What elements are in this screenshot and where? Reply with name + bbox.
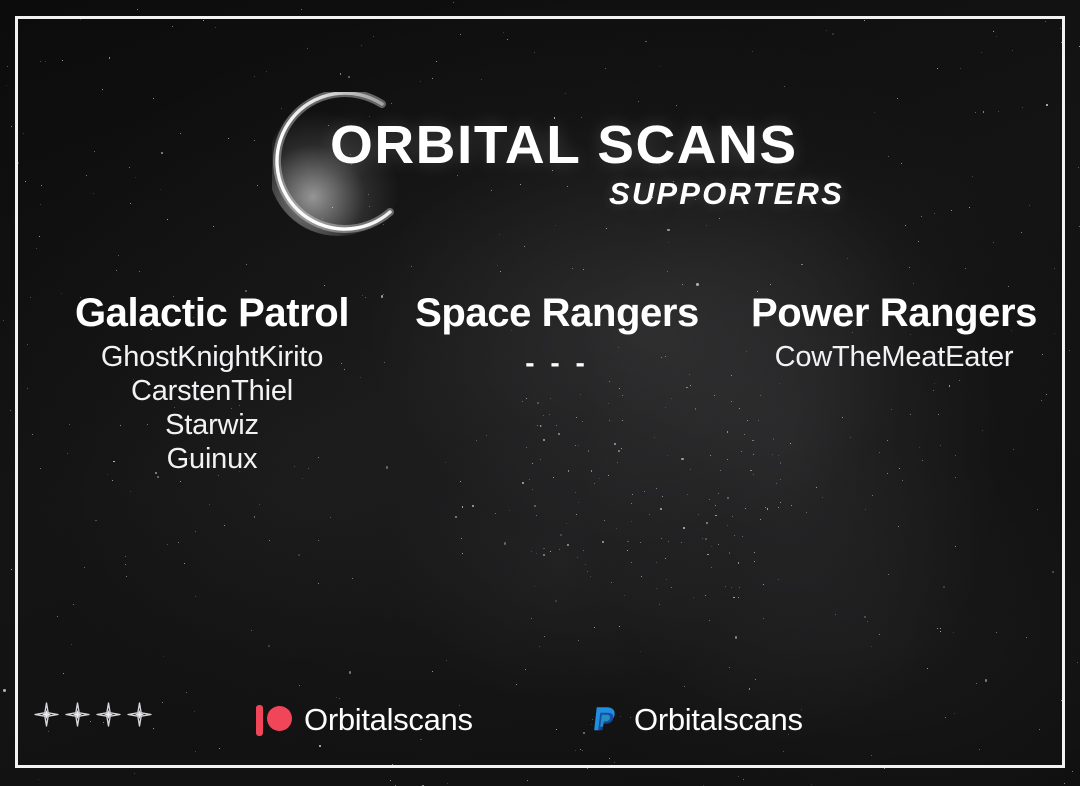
tier-galactic-patrol: Galactic Patrol GhostKnightKirito Carste… [32,290,392,476]
tier-member-list: CowTheMeatEater [724,340,1064,374]
sparkle-star-icon [34,702,59,727]
list-item: CowTheMeatEater [724,340,1064,374]
tier-title: Space Rangers [392,290,722,336]
brand-title: ORBITAL SCANS [330,118,860,172]
tier-power-rangers: Power Rangers CowTheMeatEater [724,290,1064,374]
brand-subtitle: SUPPORTERS [330,178,850,209]
patreon-icon [256,704,292,736]
tier-space-rangers: Space Rangers - - - [392,290,722,380]
social-paypal[interactable]: Orbitalscans [588,702,803,738]
social-patreon[interactable]: Orbitalscans [256,702,473,738]
footer: Orbitalscans Orbitalscans [0,698,1080,750]
brand-lockup: ORBITAL SCANS SUPPORTERS [330,118,850,209]
social-handle: Orbitalscans [304,702,473,738]
social-handle: Orbitalscans [634,702,803,738]
tier-title: Galactic Patrol [32,290,392,336]
sparkle-star-icon [127,702,152,727]
header: ORBITAL SCANS SUPPORTERS [0,40,1080,210]
tier-member-list: - - - [392,346,722,380]
paypal-icon [588,703,622,737]
tiers-section: Galactic Patrol GhostKnightKirito Carste… [0,290,1080,476]
list-item: CarstenThiel [32,374,392,408]
tier-title: Power Rangers [724,290,1064,336]
sparkle-star-icon [96,702,121,727]
sparkle-star-icon [65,702,90,727]
supporters-poster: ORBITAL SCANS SUPPORTERS Galactic Patrol… [0,0,1080,786]
tier-empty-placeholder: - - - [392,346,722,380]
list-item: Guinux [32,442,392,476]
tier-member-list: GhostKnightKirito CarstenThiel Starwiz G… [32,340,392,476]
list-item: GhostKnightKirito [32,340,392,374]
list-item: Starwiz [32,408,392,442]
sparkle-row [34,702,152,727]
